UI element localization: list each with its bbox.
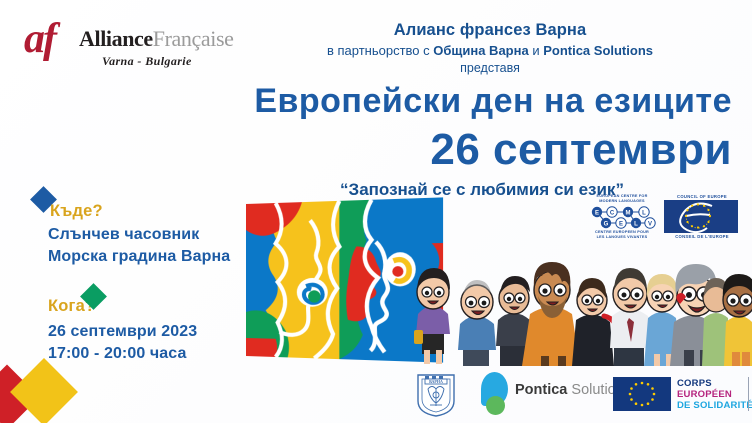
solidarity-corps-wordmark: CORPS EUROPÉEN DE SOLIDARITÉ [677,378,752,412]
svg-text:L: L [634,222,638,228]
svg-text:E: E [595,211,599,217]
character-4 [522,262,580,366]
where-label: Къде? [50,202,103,222]
council-of-europe-logo: COUNCIL OF EUROPE CONSEIL DE L'EUROPE [664,194,740,242]
svg-text:L: L [642,211,646,217]
af-monogram: af [24,18,55,60]
svg-text:C: C [610,211,615,217]
event-details: Къде? Слънчев часовник Морска градина Ва… [22,196,237,364]
presenter-organiser: Алианс франсез Варна [255,20,725,41]
poster-canvas: af AllianceFrançaise Varna - Bulgarie Ал… [0,0,752,423]
where-row: Къде? [22,196,237,218]
european-solidarity-corps-logo: CORPS EUROPÉEN DE SOLIDARITÉ [613,377,749,411]
when-row: Кога? [22,291,237,315]
character-2 [458,280,496,366]
where-line-1: Слънчев часовник [48,224,237,246]
logo-divider [748,377,749,411]
title-block: Европейски ден на езиците 26 септември “… [232,80,732,201]
ecml-caption-top: EUROPEAN CENTRE FOR MODERN LANGUAGES [586,194,658,204]
when-line-1: 26 септември 2023 [48,321,237,343]
presenter-presents: представя [255,60,725,78]
eu-stars-graphic [613,377,671,411]
event-date-headline: 26 септември [232,125,732,176]
coe-caption-top: COUNCIL OF EUROPE [664,194,740,199]
solidarity-line-1: CORPS [677,378,752,389]
svg-text:ВАРНА: ВАРНА [429,379,443,384]
where-line-2: Морска градина Варна [48,246,237,268]
crowd-illustration [408,246,752,366]
presenter-header: Алианс франсез Варна в партньорство с Об… [255,20,725,78]
character-1 [414,268,450,364]
character-5 [572,278,616,366]
partners-prefix: в партньорство с [327,43,433,58]
ecml-logo: EUROPEAN CENTRE FOR MODERN LANGUAGES E C… [586,194,658,242]
pontica-wordmark-bold: Pontica [515,382,567,398]
svg-text:E: E [619,222,623,228]
when-line-2: 17:00 - 20:00 часа [48,343,237,365]
af-wordmark-bold: Alliance [79,26,153,51]
ecml-caption-bottom: CENTRE EUROPEEN POUR LES LANGUES VIVANTE… [586,230,658,240]
svg-text:M: M [626,211,631,217]
pontica-solutions-logo: Pontica Solutions [481,372,596,416]
svg-text:V: V [648,222,652,228]
partner-pontica: Pontica Solutions [543,43,653,58]
af-subtitle: Varna - Bulgarie [102,54,192,69]
event-title: Европейски ден на езиците [232,80,732,123]
solidarity-line-2: EUROPÉEN [677,389,752,400]
coe-stars-e-graphic [664,200,738,233]
when-value: 26 септември 2023 17:00 - 20:00 часа [48,321,237,364]
af-wordmark-light: Française [153,26,234,51]
coe-caption-bottom: CONSEIL DE L'EUROPE [664,234,740,239]
partners-conjunction: и [529,43,544,58]
ecml-caption-bottom-2: LES LANGUES VIVANTES [586,235,658,240]
af-wordmark: AllianceFrançaise [79,28,234,50]
alliance-francaise-logo: af AllianceFrançaise Varna - Bulgarie [24,16,224,70]
presenter-partners: в партньорство с Община Варна и Pontica … [255,41,725,61]
ecml-network-graphic: E C M L G E L V [586,204,658,230]
character-group [414,262,752,366]
pontica-dot-icon [486,396,505,415]
where-value: Слънчев часовник Морска градина Варна [48,224,237,267]
svg-text:G: G [604,222,609,228]
coe-emblem [664,200,738,233]
varna-municipality-crest: ВАРНА [414,371,458,417]
eu-flag-icon [613,377,671,411]
character-6 [610,268,650,366]
solidarity-line-3: DE SOLIDARITÉ [677,400,752,411]
partner-municipality: Община Варна [433,43,528,58]
